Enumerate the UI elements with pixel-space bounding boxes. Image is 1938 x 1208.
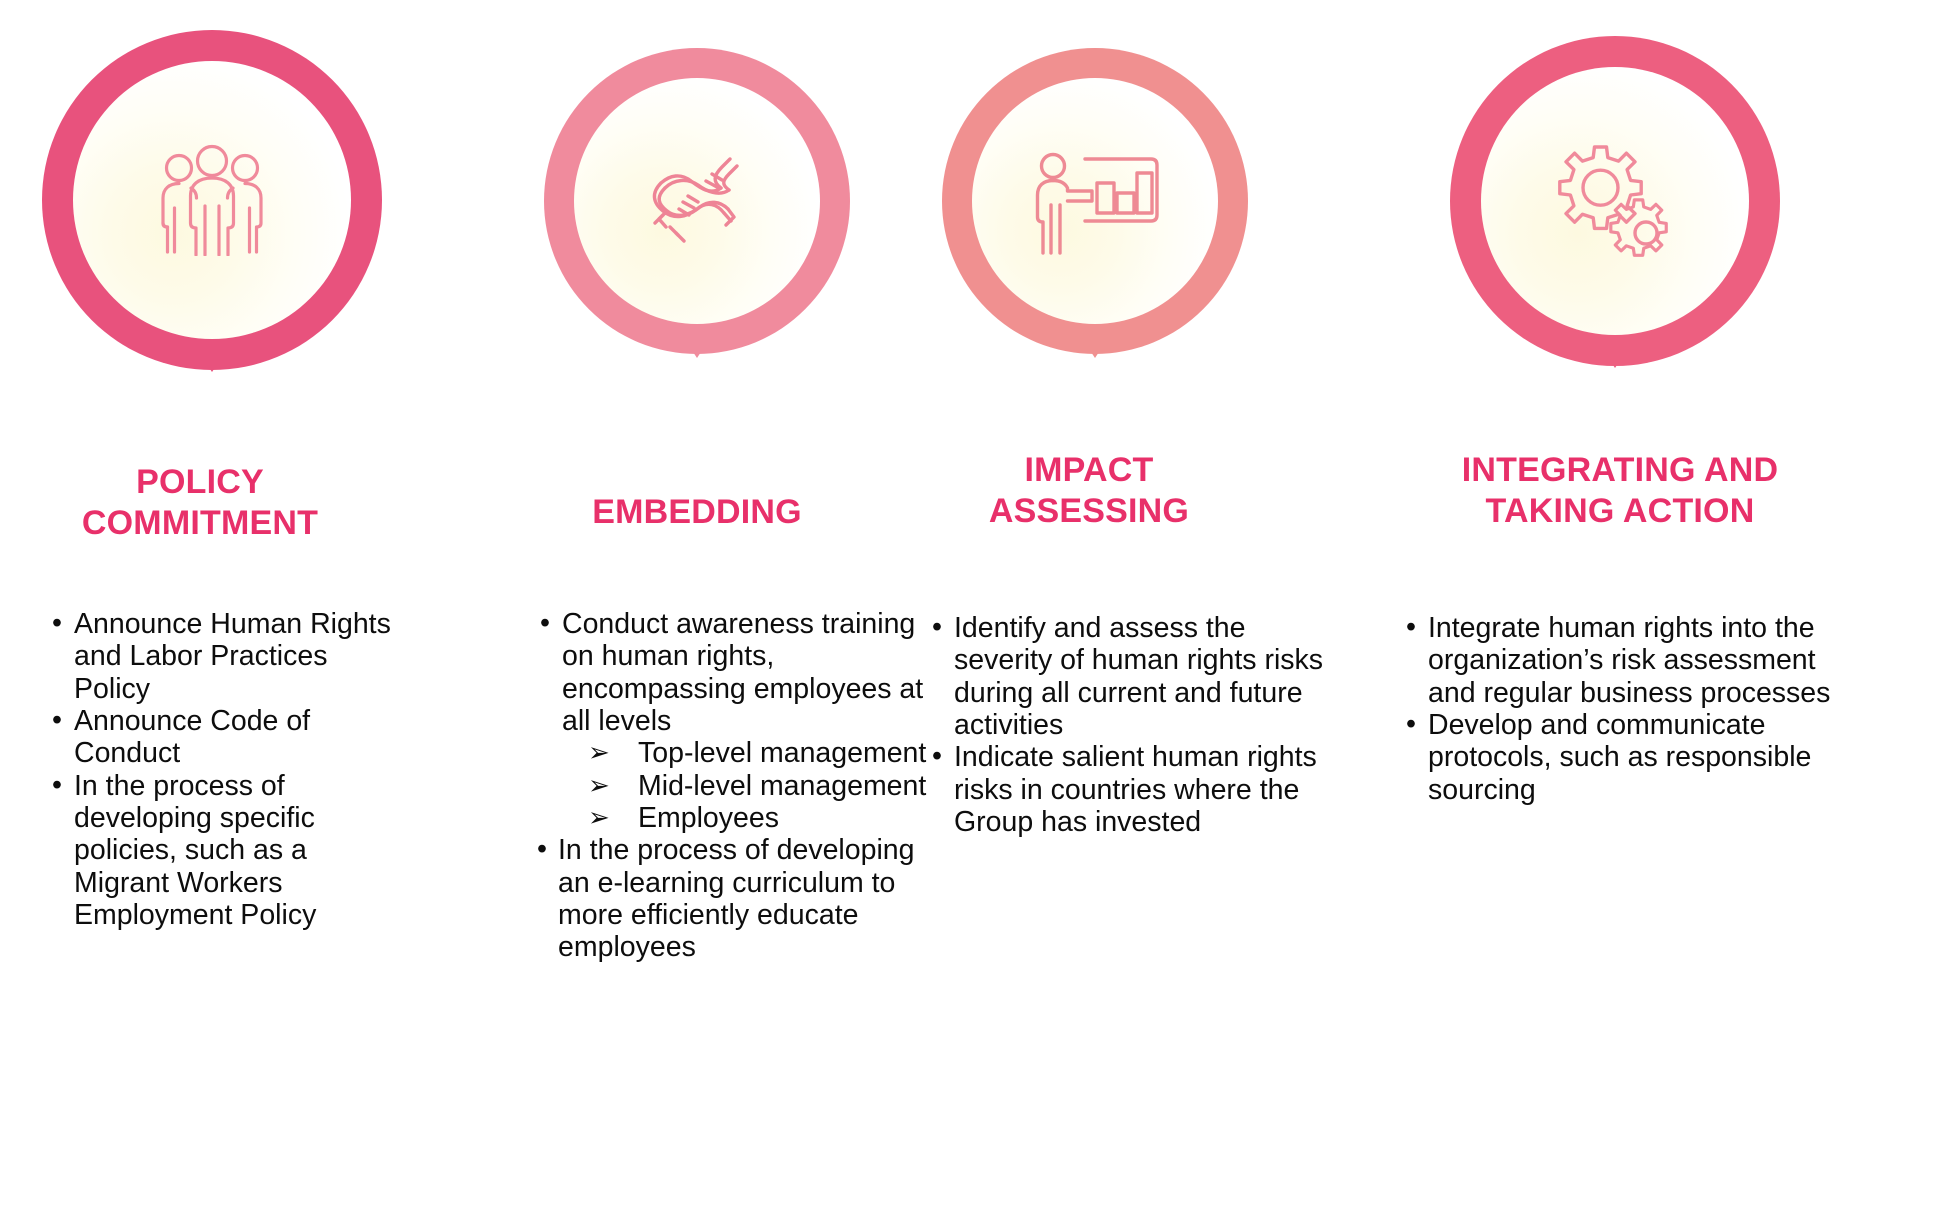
bullet-marker: • (932, 740, 942, 772)
sub-bullet-list: ➢ Top-level management ➢ Mid-level manag… (562, 737, 932, 834)
pin-ring (544, 48, 850, 354)
stage-badge-policy-commitment (42, 30, 382, 370)
stage-badge-impact-assessing (942, 48, 1248, 354)
stage-heading-line-1: INTEGRATING AND (1390, 450, 1850, 491)
bullet-text: Integrate human rights into the organiza… (1428, 612, 1830, 709)
list-item: • Announce Human Rights and Labor Practi… (44, 608, 402, 705)
bullet-text: Announce Human Rights and Labor Practice… (74, 608, 391, 705)
bullet-text: In the process of developing specific po… (74, 770, 316, 931)
bullet-text: Announce Code of Conduct (74, 705, 310, 769)
list-item: • Announce Code of Conduct (44, 705, 402, 770)
pin-ring (1450, 36, 1780, 366)
pin-ring (942, 48, 1248, 354)
stage-heading-line-2: TAKING ACTION (1390, 491, 1850, 532)
stage-badge-integrating-and-taking-action (1450, 36, 1780, 366)
pin-inner-disc (574, 78, 820, 324)
bullet-text: Identify and assess the severity of huma… (954, 612, 1323, 741)
bullet-text: In the process of developing an e-learni… (558, 834, 915, 963)
stage-heading-line-2: ASSESSING (914, 491, 1264, 532)
list-item: • Indicate salient human rights risks in… (924, 741, 1334, 838)
bullet-marker: • (52, 607, 62, 639)
bullet-text: Conduct awareness training on human righ… (562, 608, 923, 737)
stage-badge-embedding (544, 48, 850, 354)
infographic-canvas: POLICY COMMITMENT • Announce Human Right… (0, 0, 1938, 1208)
gears-icon (1550, 140, 1680, 262)
pin-ring (42, 30, 382, 370)
list-item: • In the process of developing an e-lear… (532, 834, 932, 963)
bullet-marker: • (1406, 611, 1416, 643)
list-item: • Conduct awareness training on human ri… (532, 608, 932, 834)
stage-heading-line-1: POLICY (0, 462, 400, 503)
dna-helix-icon (634, 141, 760, 261)
sub-bullet-text: Top-level management (638, 737, 926, 769)
sub-list-item: ➢ Top-level management (562, 737, 932, 769)
stage-bullets-integrating-and-taking-action: • Integrate human rights into the organi… (1398, 612, 1868, 806)
stage-heading-impact-assessing: IMPACT ASSESSING (914, 450, 1264, 533)
stage-heading-line-1: EMBEDDING (532, 492, 862, 533)
arrow-bullet-icon: ➢ (588, 737, 610, 768)
pin-inner-disc (1481, 67, 1749, 335)
arrow-bullet-icon: ➢ (588, 770, 610, 801)
bullet-marker: • (540, 607, 550, 639)
bullet-text: Indicate salient human rights risks in c… (954, 741, 1317, 838)
stage-column-integrating-and-taking-action: INTEGRATING AND TAKING ACTION • Integrat… (1410, 0, 1938, 1208)
stage-heading-integrating-and-taking-action: INTEGRATING AND TAKING ACTION (1390, 450, 1850, 533)
arrow-bullet-icon: ➢ (588, 802, 610, 833)
list-item: • In the process of developing specific … (44, 770, 402, 932)
pin-inner-disc (73, 61, 351, 339)
bullet-marker: • (537, 833, 547, 865)
stage-columns: POLICY COMMITMENT • Announce Human Right… (0, 0, 1938, 1208)
stage-column-policy-commitment: POLICY COMMITMENT • Announce Human Right… (0, 0, 540, 1208)
stage-column-impact-assessing: IMPACT ASSESSING • Identify and assess t… (930, 0, 1410, 1208)
sub-bullet-text: Employees (638, 802, 779, 834)
stage-column-embedding: EMBEDDING • Conduct awareness training o… (540, 0, 930, 1208)
list-item: • Identify and assess the severity of hu… (924, 612, 1334, 741)
stage-bullets-embedding: • Conduct awareness training on human ri… (532, 608, 932, 964)
stage-bullets-policy-commitment: • Announce Human Rights and Labor Practi… (44, 608, 402, 931)
stage-bullets-impact-assessing: • Identify and assess the severity of hu… (924, 612, 1334, 838)
bullet-text: Develop and communicate protocols, such … (1428, 709, 1811, 806)
stage-heading-line-1: IMPACT (914, 450, 1264, 491)
list-item: • Develop and communicate protocols, suc… (1398, 709, 1868, 806)
stage-heading-embedding: EMBEDDING (532, 492, 862, 533)
presentation-chart-person-icon (1029, 145, 1161, 257)
bullet-marker: • (932, 611, 942, 643)
people-group-icon (152, 144, 272, 256)
sub-list-item: ➢ Mid-level management (562, 770, 932, 802)
bullet-marker: • (1406, 708, 1416, 740)
bullet-marker: • (52, 769, 62, 801)
sub-bullet-text: Mid-level management (638, 770, 926, 802)
stage-heading-line-2: COMMITMENT (0, 503, 400, 544)
stage-heading-policy-commitment: POLICY COMMITMENT (0, 462, 400, 545)
sub-list-item: ➢ Employees (562, 802, 932, 834)
pin-inner-disc (972, 78, 1218, 324)
bullet-marker: • (52, 704, 62, 736)
list-item: • Integrate human rights into the organi… (1398, 612, 1868, 709)
